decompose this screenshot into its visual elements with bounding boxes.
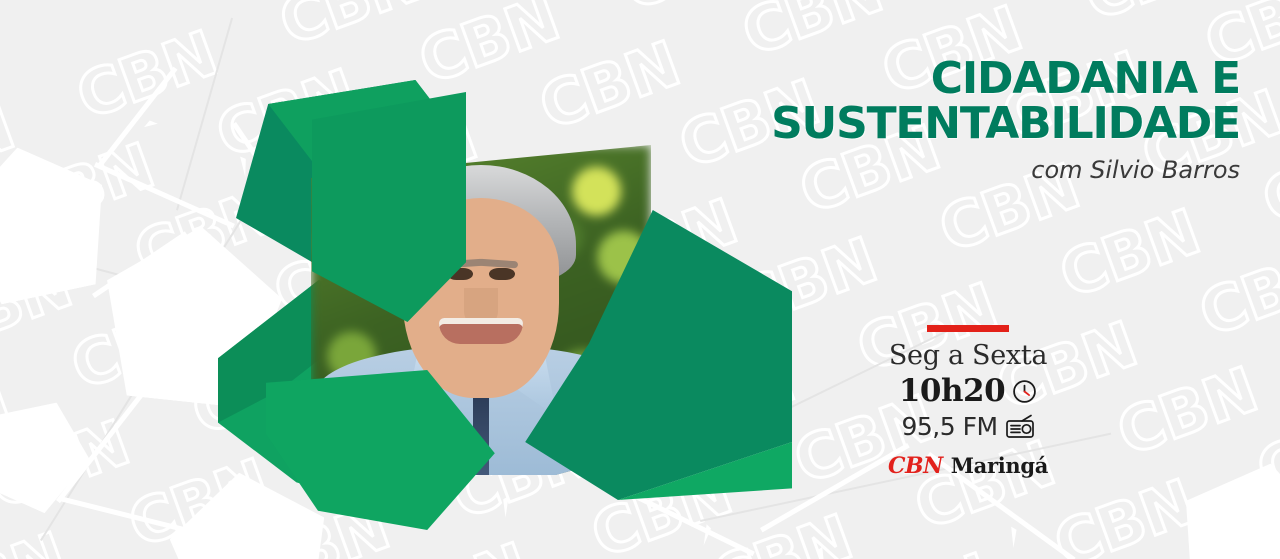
show-host-subtitle: com Silvio Barros xyxy=(771,156,1240,184)
clock-icon xyxy=(1012,379,1037,404)
watermark-cbn: CBN xyxy=(0,412,136,519)
emblem-arrow-right xyxy=(502,210,792,500)
watermark-cbn: CBN xyxy=(1077,0,1231,30)
watermark-cbn: CBN xyxy=(705,506,859,559)
watermark-cbn: CBN xyxy=(1052,201,1206,308)
deco-pentagon xyxy=(0,132,122,310)
watermark-cbn: CBN xyxy=(844,545,998,559)
station-frequency: 95,5 FM xyxy=(901,412,997,441)
show-title-block: CIDADANIA E SUSTENTABILIDADE com Silvio … xyxy=(771,56,1240,184)
station-logo: CBN Maringá xyxy=(888,453,1048,479)
schedule-time: 10h20 xyxy=(899,373,1005,409)
watermark-cbn: CBN xyxy=(0,524,73,559)
show-title-line-2: SUSTENTABILIDADE xyxy=(771,101,1240,146)
watermark-cbn: CBN xyxy=(1110,359,1264,466)
watermark-cbn: CBN xyxy=(0,96,21,203)
watermark-cbn: CBN xyxy=(6,135,160,242)
station-city: Maringá xyxy=(951,453,1048,478)
schedule-days: Seg a Sexta xyxy=(888,342,1048,370)
watermark-cbn: CBN xyxy=(614,0,768,20)
radio-icon xyxy=(1005,414,1035,439)
watermark-cbn: CBN xyxy=(1250,397,1280,504)
watermark-cbn: CBN xyxy=(381,534,535,559)
watermark-cbn: CBN xyxy=(272,0,426,55)
radio-show-banner: CBN CBN CBN CBN CBN CBN CBN CBN CBN CBN … xyxy=(0,0,1280,559)
watermark-cbn: CBN xyxy=(0,254,79,361)
watermark-cbn: CBN xyxy=(1167,517,1280,559)
watermark-cbn: CBN xyxy=(1255,127,1280,234)
schedule-time-row: 10h20 xyxy=(888,373,1048,409)
watermark-cbn: CBN xyxy=(0,366,16,473)
red-divider xyxy=(927,325,1009,332)
watermark-cbn: CBN xyxy=(1047,471,1201,559)
watermark-cbn: CBN xyxy=(64,292,218,399)
station-frequency-row: 95,5 FM xyxy=(888,412,1048,441)
schedule-info-block: Seg a Sexta 10h20 95,5 FM xyxy=(888,325,1048,479)
emblem-face-top xyxy=(312,92,466,322)
emblem-wedge-bottom xyxy=(266,370,526,530)
watermark-cbn: CBN xyxy=(70,22,224,129)
deco-pentagon xyxy=(0,381,105,521)
deco-pentagon xyxy=(1166,448,1280,559)
cbn-logo-text: CBN xyxy=(888,453,943,479)
show-title-line-1: CIDADANIA E xyxy=(771,56,1240,101)
watermark-cbn: CBN xyxy=(1192,239,1280,346)
